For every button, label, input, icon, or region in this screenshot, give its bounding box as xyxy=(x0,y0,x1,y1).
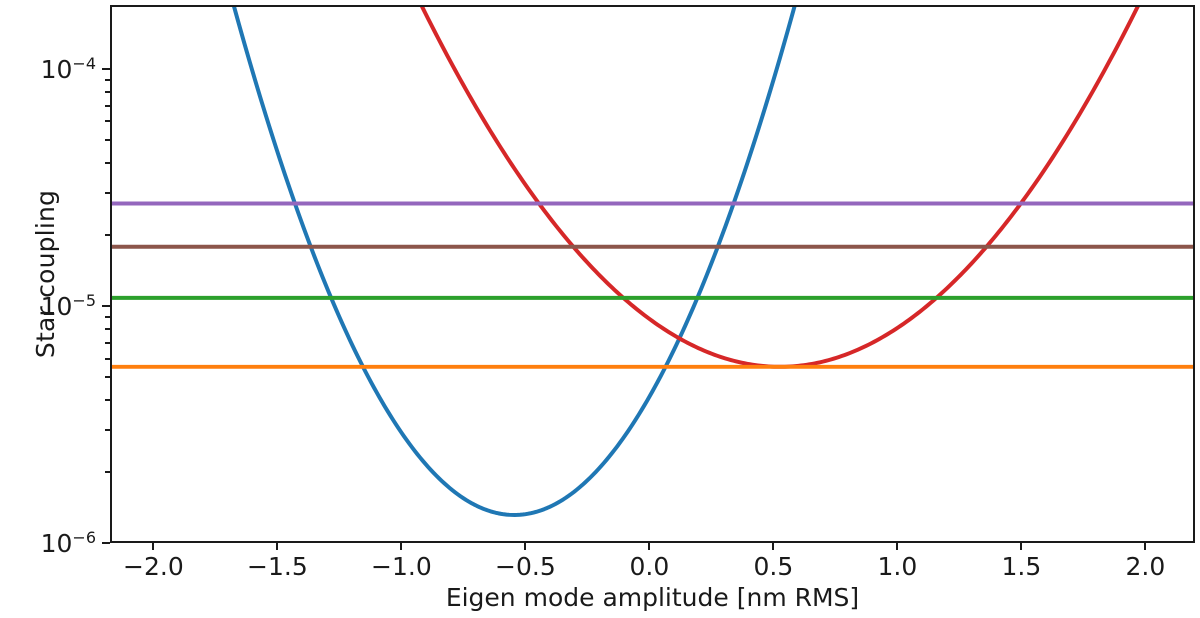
x-tick-label: −1.5 xyxy=(247,552,308,581)
x-tick-label: −2.0 xyxy=(123,552,184,581)
x-tick-label: 2.0 xyxy=(1126,552,1166,581)
plot-area xyxy=(110,5,1195,543)
y-minor-tick-mark xyxy=(105,429,110,431)
y-minor-tick-mark xyxy=(105,139,110,141)
x-tick-mark xyxy=(772,543,774,550)
y-minor-tick-mark xyxy=(105,234,110,236)
x-tick-mark xyxy=(524,543,526,550)
y-tick-label: 10−6 xyxy=(41,528,96,558)
y-minor-tick-mark xyxy=(105,358,110,360)
y-minor-tick-mark xyxy=(105,376,110,378)
x-axis-label: Eigen mode amplitude [nm RMS] xyxy=(110,583,1195,612)
y-tick-mark xyxy=(102,68,110,70)
y-minor-tick-mark xyxy=(105,399,110,401)
x-tick-label: 1.0 xyxy=(878,552,918,581)
y-tick-mark xyxy=(102,542,110,544)
y-axis-label: Star coupling xyxy=(30,5,60,543)
x-tick-mark xyxy=(896,543,898,550)
x-tick-mark xyxy=(276,543,278,550)
y-minor-tick-mark xyxy=(105,120,110,122)
x-tick-label: 0.0 xyxy=(630,552,670,581)
curve-blue xyxy=(112,7,1193,515)
y-minor-tick-mark xyxy=(105,328,110,330)
figure: Star coupling −2.0−1.5−1.0−0.50.00.51.01… xyxy=(0,0,1200,618)
plot-canvas xyxy=(112,7,1193,541)
x-tick-mark xyxy=(152,543,154,550)
y-minor-tick-mark xyxy=(105,192,110,194)
x-tick-label: −1.0 xyxy=(371,552,432,581)
y-minor-tick-mark xyxy=(105,105,110,107)
x-tick-mark xyxy=(400,543,402,550)
y-minor-tick-mark xyxy=(105,162,110,164)
y-tick-label: 10−4 xyxy=(41,54,96,84)
y-minor-tick-mark xyxy=(105,79,110,81)
curve-red xyxy=(112,7,1193,367)
y-tick-mark xyxy=(102,305,110,307)
y-tick-label: 10−5 xyxy=(41,291,96,321)
x-tick-mark xyxy=(1144,543,1146,550)
x-tick-label: −0.5 xyxy=(495,552,556,581)
y-minor-tick-mark xyxy=(105,91,110,93)
x-tick-label: 1.5 xyxy=(1002,552,1042,581)
y-minor-tick-mark xyxy=(105,316,110,318)
y-minor-tick-mark xyxy=(105,471,110,473)
x-tick-mark xyxy=(1020,543,1022,550)
x-tick-mark xyxy=(648,543,650,550)
y-minor-tick-mark xyxy=(105,342,110,344)
x-tick-label: 0.5 xyxy=(754,552,794,581)
